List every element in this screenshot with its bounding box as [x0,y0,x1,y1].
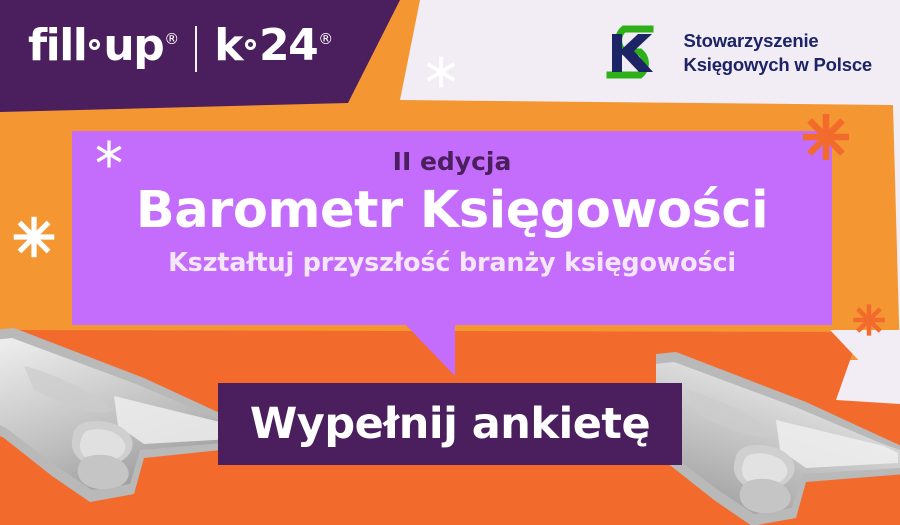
speech-bubble-content: II edycja Barometr Księgowości Kształtuj… [72,131,832,325]
skwp-logo[interactable]: Stowarzyszenie Księgowych w Polsce [594,20,872,86]
asterisk-left-upper [12,215,56,259]
fillup-word-up: up [103,20,163,71]
fill-survey-button-label: Wypełnij ankietę [250,403,650,446]
hand-pointing-right [0,326,244,525]
promo-banner: fillup® k24® Stowarzyszenie Księgowych w… [0,0,900,525]
asterisk-right-lower [852,303,886,337]
page-title: Barometr Księgowości [136,183,768,238]
fillup-k24-logo[interactable]: fillup® k24® [28,24,332,72]
registered-mark-k24: ® [318,30,332,48]
skwp-sk-monogram-icon [594,20,670,86]
k24-letter-k: k [214,20,242,71]
edition-label: II edycja [393,149,512,174]
logo-divider [195,26,198,72]
subtitle: Kształtuj przyszłość branży księgowości [168,249,736,277]
registered-mark-fillup: ® [164,30,178,48]
dot-icon [245,39,256,50]
asterisk-bubble-right [801,112,851,162]
dot-icon [89,39,100,50]
k24-number: 24 [259,20,317,71]
skwp-line-2: Księgowych w Polsce [684,53,872,77]
hand-pointing-left [656,352,900,525]
fillup-wordmark: fillup® [28,24,178,68]
fillup-word-fill: fill [28,20,86,71]
asterisk-bubble-left [94,139,124,169]
k24-wordmark: k24® [214,24,332,68]
fill-survey-button[interactable]: Wypełnij ankietę [218,383,682,465]
asterisk-top-middle [424,55,458,89]
skwp-logo-text: Stowarzyszenie Księgowych w Polsce [684,29,872,78]
skwp-line-1: Stowarzyszenie [684,29,872,53]
